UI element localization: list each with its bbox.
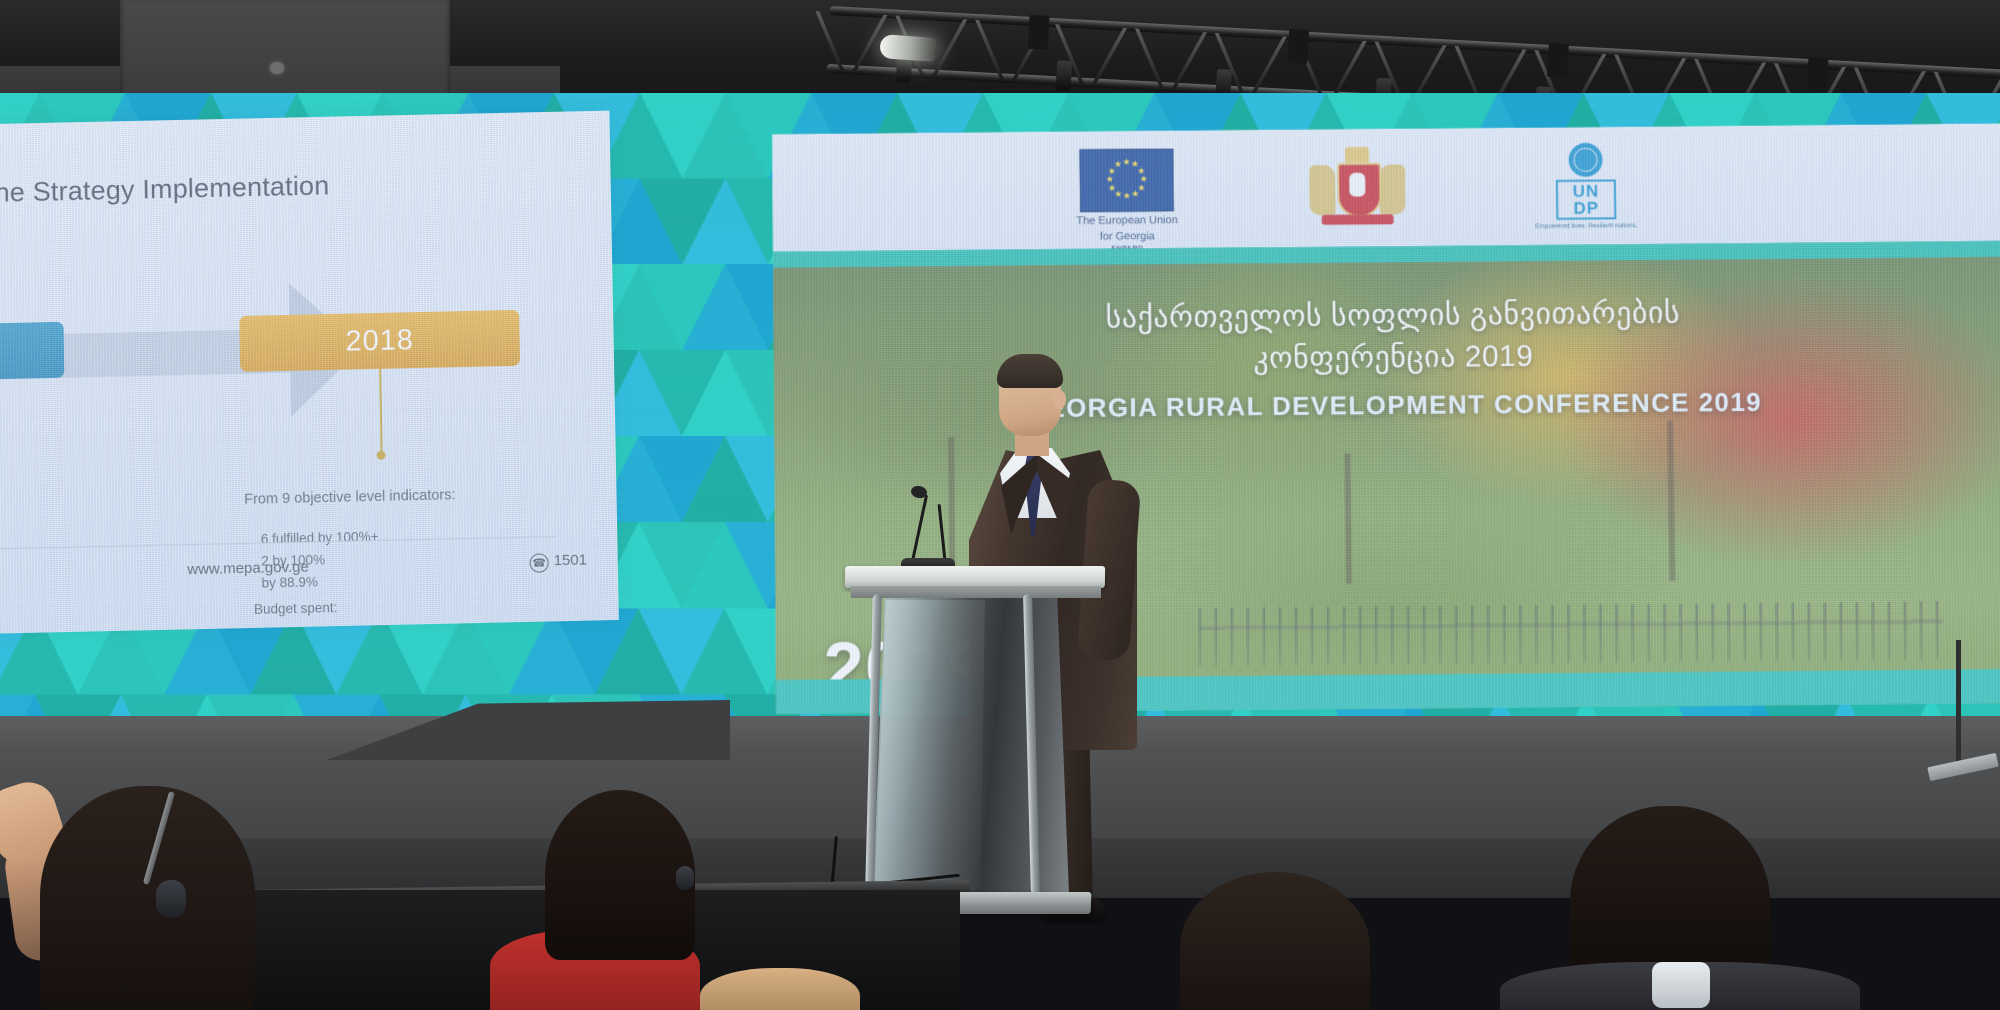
phone-icon: ☎: [529, 553, 548, 572]
coat-of-arms-lion-right: [1379, 164, 1406, 214]
eu-logo-caption-line1: The European Union: [1072, 214, 1182, 228]
undp-globe-icon: [1568, 143, 1602, 177]
right-col-line-1: From 9 objective level indicators:: [244, 485, 456, 510]
ceiling-vent-icon: [270, 62, 284, 74]
audience-member-far-right-collar: [1652, 962, 1710, 1008]
conference-title-georgian-line1: საქართველოს სოფლის განვითარების: [773, 293, 2000, 339]
coat-of-arms-crown-icon: [1345, 147, 1369, 163]
speaker-hair: [997, 354, 1063, 388]
right-col-line-1-text: From 9 objective level indicators:: [244, 487, 456, 508]
undp-logo: UN DP Empowered lives. Resilient nations…: [1530, 142, 1641, 231]
eu-flag-icon: ★★★★★★★★★★★★: [1079, 149, 1173, 213]
slide-title: ults of the Strategy Implementation: [0, 170, 330, 210]
coat-of-arms-rider-icon: [1349, 173, 1365, 197]
conference-title-english: GEORGIA RURAL DEVELOPMENT CONFERENCE 201…: [774, 385, 2000, 427]
slide-phone-number: 1501: [553, 551, 587, 569]
speaker-podium: [845, 566, 1105, 926]
undp-letters-line2: DP: [1558, 199, 1614, 216]
tree-trunk: [1667, 421, 1675, 581]
undp-tagline: Empowered lives. Resilient nations.: [1531, 222, 1641, 231]
slide-website: www.mepa.gov.ge: [187, 559, 309, 579]
georgia-coat-of-arms-logo: [1297, 144, 1418, 237]
coat-of-arms-lion-left: [1309, 165, 1336, 215]
right-col-line-2: 6 fulfilled by 100%+: [261, 527, 379, 550]
podium-top-shadow: [851, 586, 1101, 598]
audience-member-far-right-shoulder: [1500, 962, 1860, 1010]
eu-flag-logo: ★★★★★★★★★★★★ The European Union for Geor…: [1071, 148, 1182, 253]
coat-of-arms-ribbon: [1322, 214, 1394, 225]
audience-member-red-jacket-body: [490, 930, 700, 1010]
tree-trunk: [1345, 454, 1353, 584]
eu-logo-caption-line2: for Georgia: [1072, 230, 1182, 244]
year-badge-2018: 2018: [239, 310, 520, 372]
undp-letters-line1: UN: [1558, 183, 1614, 200]
podium-base: [855, 892, 1092, 914]
stage-spotlight-icon: [879, 34, 937, 62]
conference-photo-scene: ults of the Strategy Implementation 2017…: [0, 0, 2000, 1010]
year-2018-label: 2018: [345, 324, 414, 358]
right-col-budget-label: Budget spent:: [254, 598, 338, 620]
audience-member-center: [700, 968, 860, 1010]
podium-top-surface: [845, 566, 1105, 588]
left-presentation-slide: ults of the Strategy Implementation 2017…: [0, 111, 619, 637]
conference-title-georgian-line2: კონფერენცია 2019: [773, 335, 2000, 381]
screen-support-pole: [1956, 640, 1961, 766]
logo-row: ★★★★★★★★★★★★ The European Union for Geor…: [1071, 140, 1691, 237]
year-badge-2017: 2017: [0, 322, 64, 384]
callout-dot-2018: [377, 451, 386, 460]
podium-glass-front-panel: [875, 600, 985, 890]
speaker-ear: [1053, 390, 1066, 409]
right-slide-header: ★★★★★★★★★★★★ The European Union for Geor…: [772, 123, 2000, 251]
